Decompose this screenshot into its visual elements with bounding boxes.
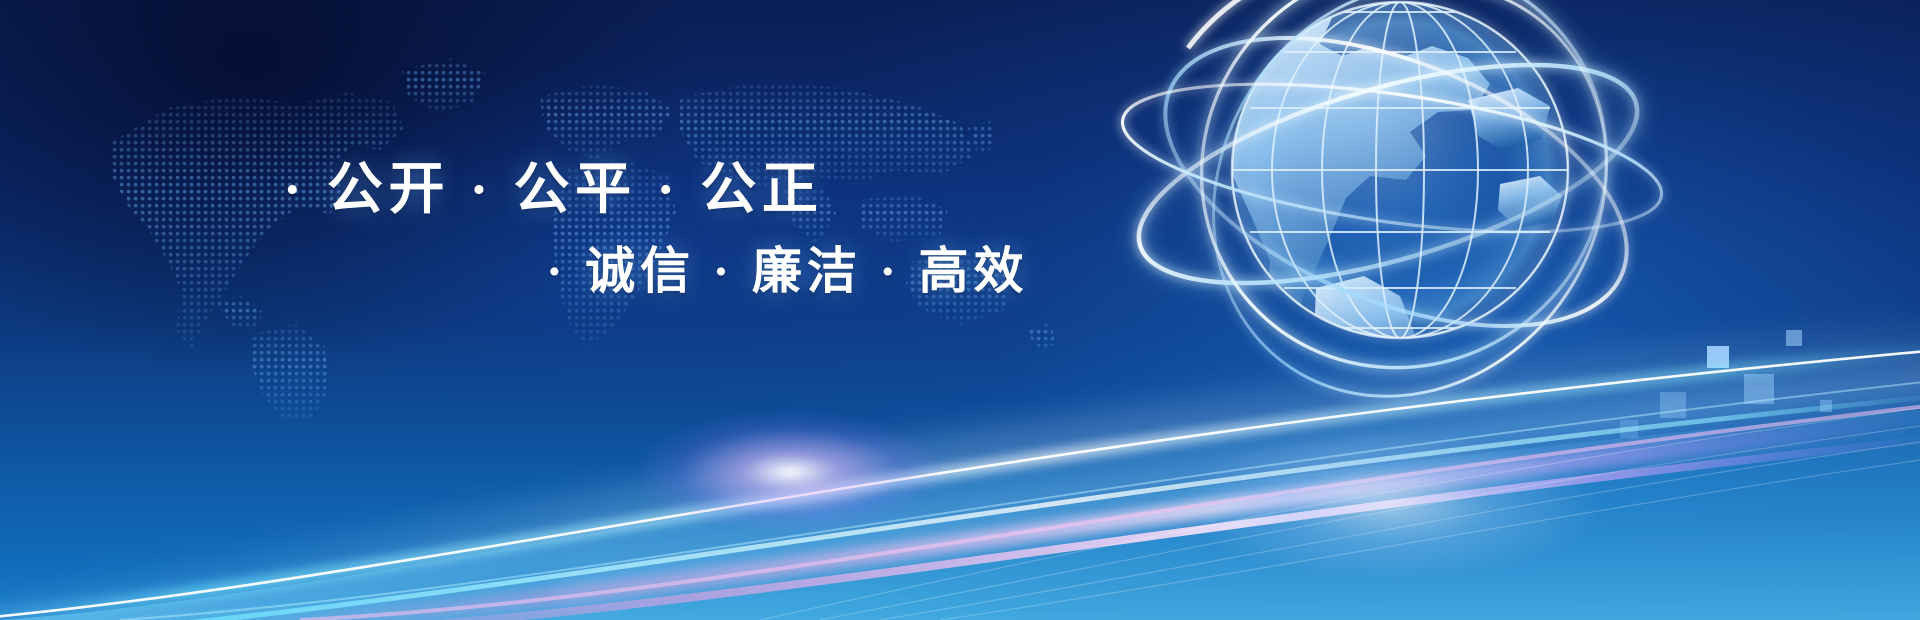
globe-grid-lines [1232,2,1568,338]
ribbon-highlight-flare-secondary [1180,430,1600,580]
ribbon-highlight-flare [640,412,940,532]
globe-sphere [1232,2,1568,338]
orbit-rings-icon [1114,0,1690,473]
pixel-square-3 [1660,392,1686,418]
slogan-line-2: · 诚信 · 廉洁 · 高效 [546,231,1029,303]
pixel-square-5 [1620,420,1638,438]
pixel-square-2 [1744,374,1774,404]
background-vignette [0,0,700,380]
slogan-block: · 公开 · 公平 · 公正 · 诚信 · 廉洁 · 高效 [0,0,1180,380]
wireframe-globe-icon [1070,0,1630,460]
pixel-square-6 [1820,400,1832,412]
light-ribbon-streaks [0,290,1920,620]
slogan-line-1: · 公开 · 公平 · 公正 [283,144,823,225]
pixel-square-1 [1707,346,1729,368]
background-center-glow [180,60,1080,440]
pixel-square-4 [1786,330,1802,346]
dotted-world-map [0,0,1180,420]
promotional-banner: · 公开 · 公平 · 公正 · 诚信 · 廉洁 · 高效 [0,0,1920,620]
globe-continents [1190,0,1562,416]
